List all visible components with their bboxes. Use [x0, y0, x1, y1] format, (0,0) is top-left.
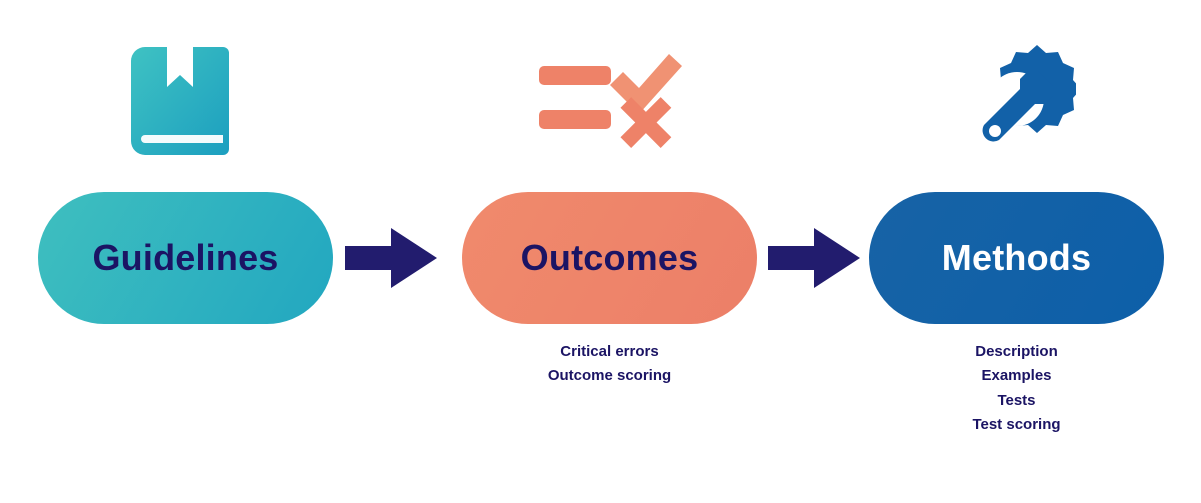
sublist-methods: Description Examples Tests Test scoring: [869, 340, 1164, 437]
step-methods: Methods Description Examples Tests Test …: [869, 0, 1164, 503]
arrow-outcomes-to-methods: [768, 228, 860, 288]
sublist-item: Examples: [869, 364, 1164, 388]
sublist-item: Tests: [869, 389, 1164, 413]
pill-outcomes[interactable]: Outcomes: [462, 192, 757, 324]
arrow-guidelines-to-outcomes: [345, 228, 437, 288]
step-guidelines: Guidelines: [38, 0, 333, 503]
sublist-outcomes: Critical errors Outcome scoring: [462, 340, 757, 389]
pill-guidelines[interactable]: Guidelines: [38, 192, 333, 324]
sublist-item: Outcome scoring: [462, 364, 757, 388]
diagram-canvas: Guidelines Outcomes Critical errors: [0, 0, 1201, 503]
book-icon: [38, 34, 333, 174]
sublist-item: Test scoring: [869, 413, 1164, 437]
gear-wrench-icon: [869, 34, 1164, 174]
pill-methods-label: Methods: [942, 240, 1091, 276]
pill-guidelines-label: Guidelines: [92, 240, 278, 276]
sublist-item: Critical errors: [462, 340, 757, 364]
checklist-check-cross-icon: [462, 34, 757, 174]
pill-outcomes-label: Outcomes: [521, 240, 699, 276]
pill-methods[interactable]: Methods: [869, 192, 1164, 324]
step-outcomes: Outcomes Critical errors Outcome scoring: [462, 0, 757, 503]
sublist-item: Description: [869, 340, 1164, 364]
